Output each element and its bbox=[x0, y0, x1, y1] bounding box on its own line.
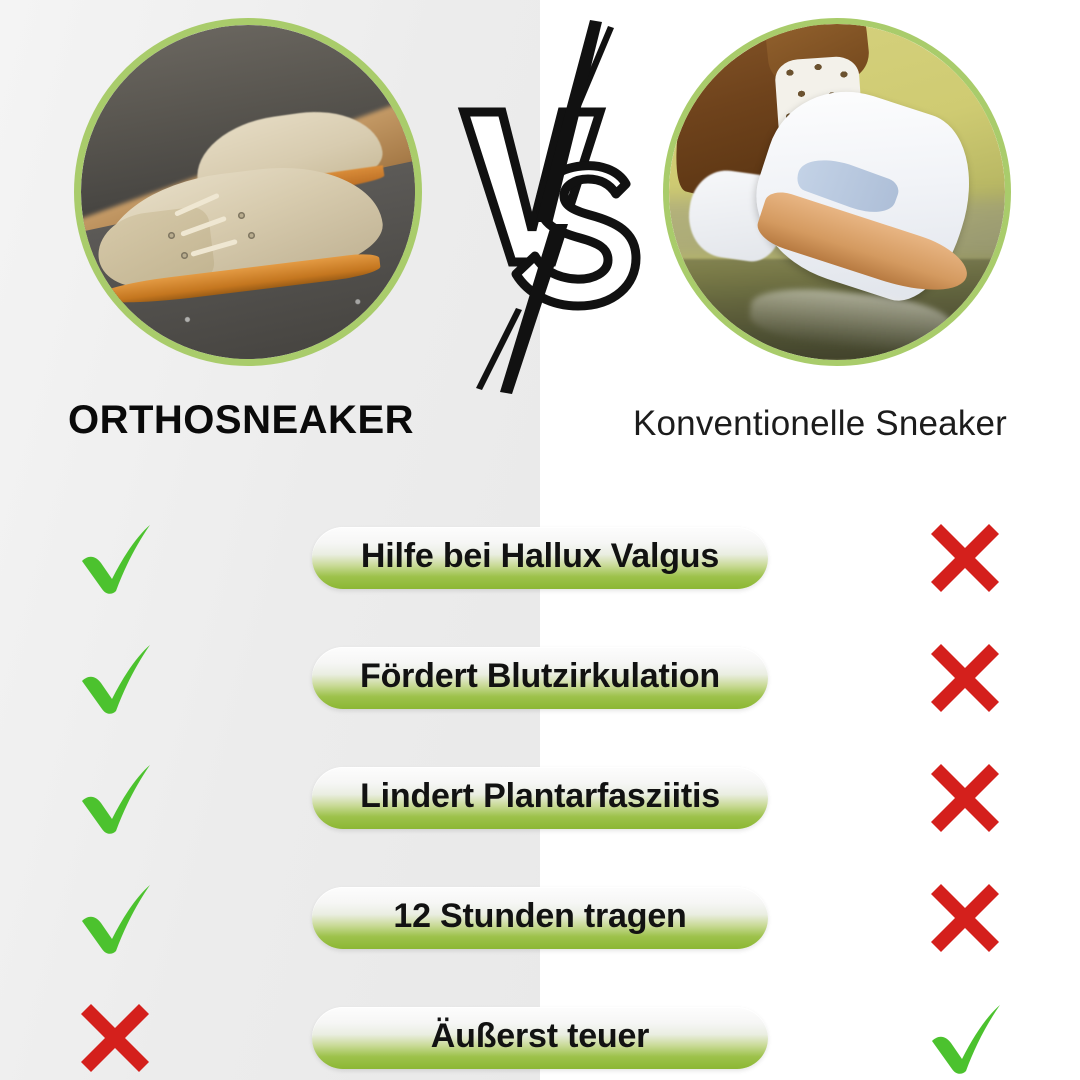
lace-eyelet bbox=[168, 232, 175, 239]
cross-icon bbox=[927, 520, 1003, 596]
mark-cell-right bbox=[850, 880, 1080, 956]
mark-cell-right bbox=[850, 999, 1080, 1077]
mark-cell-right bbox=[850, 640, 1080, 716]
comparison-rows: Hilfe bei Hallux Valgus Fördert Blutzirk… bbox=[0, 498, 1080, 1080]
feature-pill: Äußerst teuer bbox=[312, 1007, 768, 1068]
product-photo-conventional-sneaker bbox=[663, 18, 1011, 366]
check-icon bbox=[72, 639, 158, 717]
check-icon bbox=[72, 879, 158, 957]
comparison-infographic: ORTHOSNEAKER Konventionelle Sneaker Hilf… bbox=[0, 0, 1080, 1080]
comparison-row: Äußerst teuer bbox=[0, 978, 1080, 1080]
photo-right-inner bbox=[669, 24, 1005, 360]
feature-pill-cell: Fördert Blutzirkulation bbox=[230, 647, 850, 708]
feature-pill-cell: 12 Stunden tragen bbox=[230, 887, 850, 948]
photo-left-inner bbox=[81, 25, 415, 359]
cross-icon bbox=[77, 1000, 153, 1076]
feature-pill-cell: Äußerst teuer bbox=[230, 1007, 850, 1068]
comparison-row: 12 Stunden tragen bbox=[0, 858, 1080, 978]
feature-pill: 12 Stunden tragen bbox=[312, 887, 768, 948]
feature-pill: Lindert Plantarfasziitis bbox=[312, 767, 768, 828]
comparison-row: Lindert Plantarfasziitis bbox=[0, 738, 1080, 858]
mark-cell-left bbox=[0, 879, 230, 957]
feature-pill-cell: Hilfe bei Hallux Valgus bbox=[230, 527, 850, 588]
product-photo-orthosneaker bbox=[74, 18, 422, 366]
check-icon bbox=[72, 519, 158, 597]
comparison-row: Fördert Blutzirkulation bbox=[0, 618, 1080, 738]
mark-cell-right bbox=[850, 760, 1080, 836]
mark-cell-left bbox=[0, 639, 230, 717]
check-icon bbox=[72, 759, 158, 837]
mark-cell-left bbox=[0, 759, 230, 837]
feature-pill-cell: Lindert Plantarfasziitis bbox=[230, 767, 850, 828]
page-title-left: ORTHOSNEAKER bbox=[0, 398, 482, 443]
mark-cell-left bbox=[0, 519, 230, 597]
feature-pill: Hilfe bei Hallux Valgus bbox=[312, 527, 768, 588]
check-icon bbox=[922, 999, 1008, 1077]
cross-icon bbox=[927, 760, 1003, 836]
comparison-row: Hilfe bei Hallux Valgus bbox=[0, 498, 1080, 618]
cross-icon bbox=[927, 640, 1003, 716]
page-title-right: Konventionelle Sneaker bbox=[560, 404, 1080, 444]
cross-icon bbox=[927, 880, 1003, 956]
vs-badge bbox=[440, 16, 660, 396]
mark-cell-left bbox=[0, 1000, 230, 1076]
lace-eyelet bbox=[238, 212, 245, 219]
mark-cell-right bbox=[850, 520, 1080, 596]
feature-pill: Fördert Blutzirkulation bbox=[312, 647, 768, 708]
